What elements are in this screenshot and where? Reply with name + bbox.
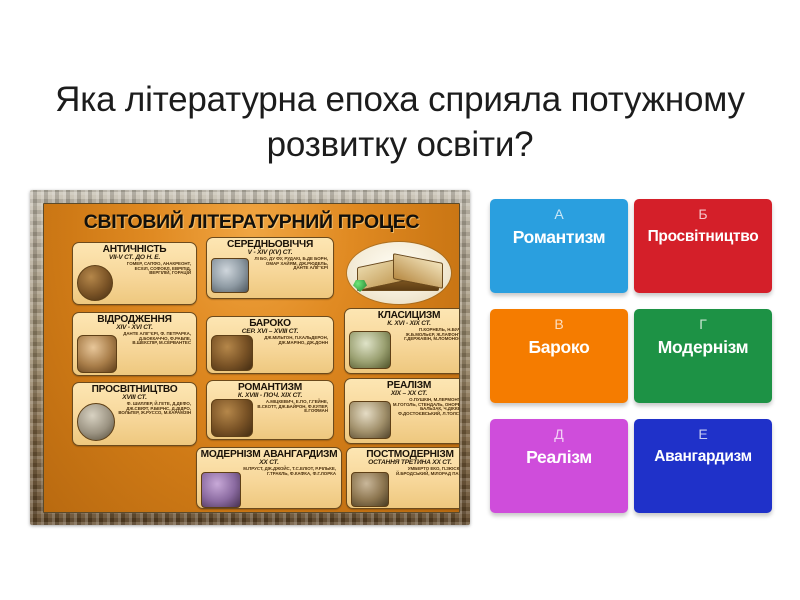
era-card: МОДЕРНІЗМ АВАНГАРДИЗМ XX СТ. М.ПРУСТ, ДЖ… xyxy=(196,447,342,509)
answer-option-b[interactable]: Б Просвітництво xyxy=(634,199,772,293)
poster-title: СВІТОВИЙ ЛІТЕРАТУРНИЙ ПРОЦЕС xyxy=(44,211,459,234)
question-text: Яка літературна епоха сприяла потужному … xyxy=(0,78,800,168)
answer-option-a[interactable]: А Романтизм xyxy=(490,199,628,293)
era-card: РЕАЛІЗМ XIX – XX СТ. О.ПУШКІН, М.ЛЕРМОНТ… xyxy=(344,378,460,444)
answer-letter: Б xyxy=(698,207,707,221)
era-card: ВІДРОДЖЕННЯ XIV - XVI СТ. ДАНТЕ АЛІГ'ЄРІ… xyxy=(72,312,197,376)
answer-options: А Романтизм Б Просвітництво В Бароко Г М… xyxy=(490,199,772,513)
answer-option-g[interactable]: Г Модернізм xyxy=(634,309,772,403)
era-card: ПРОСВІТНИЦТВО XVIII СТ. Ф. ШИЛЛЕР, Й.ГЕТ… xyxy=(72,382,197,446)
answer-label: Модернізм xyxy=(655,338,752,357)
answer-label: Просвітництво xyxy=(645,228,762,245)
era-card: ПОСТМОДЕРНІЗМ ОСТАННЯ ТРЕТИНА XX СТ. УМБ… xyxy=(346,447,460,509)
era-card: БАРОКО СЕР. XVI – XVIII СТ. ДЖ.МІЛЬТОН, … xyxy=(206,316,334,374)
answer-label: Авангардизм xyxy=(651,448,755,465)
era-card: СЕРЕДНЬОВІЧЧЯ V - XIV (XV) СТ. ЛІ БО, ДУ… xyxy=(206,237,334,299)
era-thumb-icon xyxy=(211,258,249,293)
answer-label: Бароко xyxy=(525,338,592,357)
era-thumb-icon xyxy=(211,399,253,437)
era-thumb-icon xyxy=(77,265,113,301)
era-thumb-icon xyxy=(77,403,115,441)
answer-letter: В xyxy=(554,317,563,331)
answer-option-d[interactable]: Д Реалізм xyxy=(490,419,628,513)
open-book-icon xyxy=(347,242,451,304)
answer-letter: Д xyxy=(554,427,563,441)
era-thumb-icon xyxy=(349,401,391,439)
answer-option-v[interactable]: В Бароко xyxy=(490,309,628,403)
poster-canvas: СВІТОВИЙ ЛІТЕРАТУРНИЙ ПРОЦЕС АНТИЧНІСТЬ … xyxy=(43,203,460,513)
era-thumb-icon xyxy=(77,335,117,373)
era-card: КЛАСИЦИЗМ К. XVI - XIX СТ. П.КОРНЕЛЬ, Н.… xyxy=(344,308,460,374)
answer-label: Романтизм xyxy=(510,228,609,247)
era-thumb-icon xyxy=(351,472,389,507)
answer-option-e[interactable]: Е Авангардизм xyxy=(634,419,772,513)
era-thumb-icon xyxy=(201,472,241,508)
answer-label: Реалізм xyxy=(523,448,595,467)
answer-letter: А xyxy=(554,207,563,221)
quiz-screen: Яка літературна епоха сприяла потужному … xyxy=(0,0,800,600)
era-card: РОМАНТИЗМ К. XVIII - ПОЧ. XIX СТ. А.МІЦК… xyxy=(206,380,334,440)
question-image: СВІТОВИЙ ЛІТЕРАТУРНИЙ ПРОЦЕС АНТИЧНІСТЬ … xyxy=(30,190,470,525)
answer-letter: Г xyxy=(699,317,707,331)
era-thumb-icon xyxy=(349,331,391,369)
era-thumb-icon xyxy=(211,335,253,371)
answer-letter: Е xyxy=(698,427,707,441)
era-card: АНТИЧНІСТЬ VII-V СТ. ДО Н. Е. ГОМЕР, САП… xyxy=(72,242,197,305)
